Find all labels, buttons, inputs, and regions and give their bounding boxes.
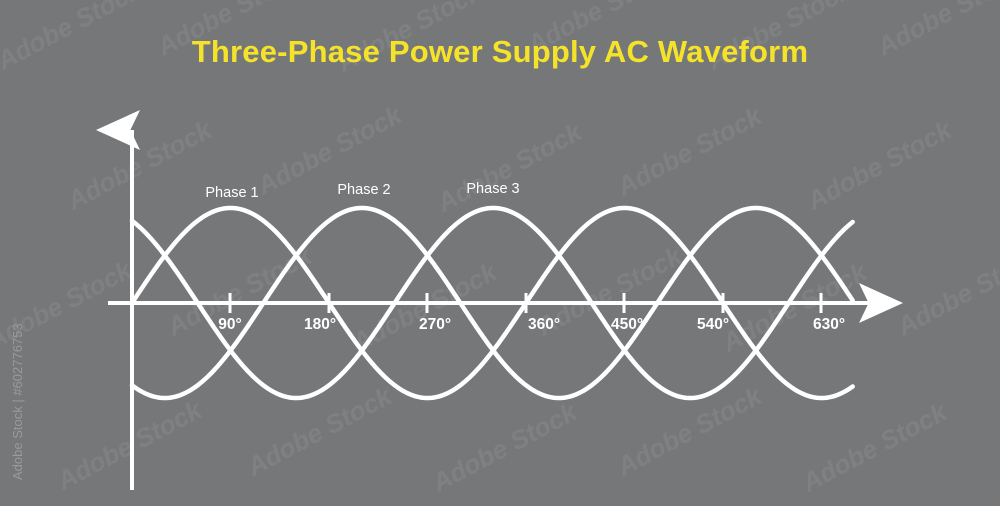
tick-label-360: 360° (528, 316, 560, 333)
tick-label-450: 450° (611, 316, 643, 333)
x-tick-labels: 90° 180° 270° 360° 450° 540° 630° (218, 316, 845, 333)
curve-labels: Phase 1 Phase 2 Phase 3 (205, 181, 519, 201)
curve-label-phase-3: Phase 3 (466, 181, 519, 197)
tick-label-180: 180° (304, 316, 336, 333)
watermark-credit: Adobe Stock | #602776753 (10, 323, 25, 480)
illustration-canvas: Adobe Stock Adobe Stock Adobe Stock Adob… (0, 0, 1000, 506)
tick-label-90: 90° (218, 316, 241, 333)
tick-label-270: 270° (419, 316, 451, 333)
tick-label-540: 540° (697, 316, 729, 333)
curve-label-phase-2: Phase 2 (337, 182, 390, 198)
curve-label-phase-1: Phase 1 (205, 185, 258, 201)
tick-label-630: 630° (813, 316, 845, 333)
waveform-chart: 90° 180° 270° 360° 450° 540° 630° Phase … (0, 0, 1000, 506)
